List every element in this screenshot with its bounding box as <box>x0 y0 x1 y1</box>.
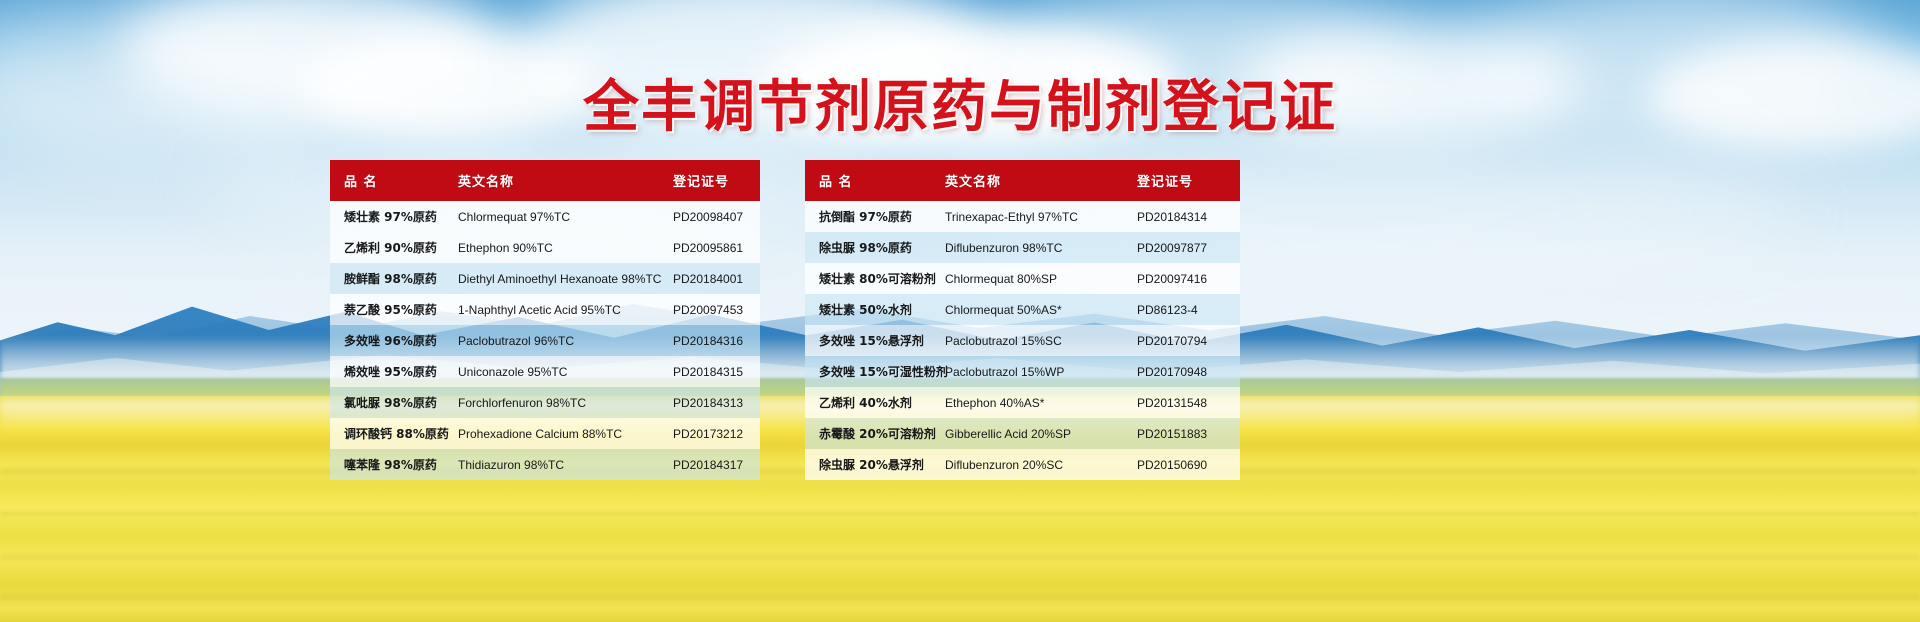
registration-table-left: 品 名 英文名称 登记证号 矮壮素 97%原药 Chlormequat 97%T… <box>330 160 760 480</box>
table-row: 调环酸钙 88%原药 Prohexadione Calcium 88%TC PD… <box>330 418 760 449</box>
field-streak <box>0 596 1920 599</box>
cell-registration-no: PD86123-4 <box>1137 294 1240 325</box>
cell-registration-no: PD20184315 <box>673 356 760 387</box>
cell-english-name: Chlormequat 97%TC <box>458 201 673 232</box>
cell-product-name: 除虫脲 20%悬浮剂 <box>805 449 945 480</box>
column-header-product-name: 品 名 <box>330 160 458 201</box>
table-row: 多效唑 96%原药 Paclobutrazol 96%TC PD20184316 <box>330 325 760 356</box>
cell-product-name: 多效唑 15%悬浮剂 <box>805 325 945 356</box>
cell-registration-no: PD20151883 <box>1137 418 1240 449</box>
table-row: 噻苯隆 98%原药 Thidiazuron 98%TC PD20184317 <box>330 449 760 480</box>
table-row: 氯吡脲 98%原药 Forchlorfenuron 98%TC PD201843… <box>330 387 760 418</box>
table-header-row: 品 名 英文名称 登记证号 <box>805 160 1240 201</box>
column-header-registration-no: 登记证号 <box>1137 160 1240 201</box>
cell-english-name: Trinexapac-Ethyl 97%TC <box>945 201 1137 232</box>
cell-registration-no: PD20131548 <box>1137 387 1240 418</box>
table: 品 名 英文名称 登记证号 抗倒酯 97%原药 Trinexapac-Ethyl… <box>805 160 1240 480</box>
cell-product-name: 抗倒酯 97%原药 <box>805 201 945 232</box>
cell-product-name: 乙烯利 40%水剂 <box>805 387 945 418</box>
cell-english-name: Ethephon 40%AS* <box>945 387 1137 418</box>
cell-english-name: Diflubenzuron 98%TC <box>945 232 1137 263</box>
cell-registration-no: PD20170948 <box>1137 356 1240 387</box>
cell-english-name: Paclobutrazol 15%WP <box>945 356 1137 387</box>
cell-registration-no: PD20173212 <box>673 418 760 449</box>
column-header-product-name: 品 名 <box>805 160 945 201</box>
table-body: 抗倒酯 97%原药 Trinexapac-Ethyl 97%TC PD20184… <box>805 201 1240 480</box>
cell-registration-no: PD20184001 <box>673 263 760 294</box>
cell-english-name: Ethephon 90%TC <box>458 232 673 263</box>
cell-product-name: 多效唑 96%原药 <box>330 325 458 356</box>
cell-product-name: 噻苯隆 98%原药 <box>330 449 458 480</box>
table-row: 矮壮素 50%水剂 Chlormequat 50%AS* PD86123-4 <box>805 294 1240 325</box>
table-header: 品 名 英文名称 登记证号 <box>330 160 760 201</box>
cell-english-name: Chlormequat 80%SP <box>945 263 1137 294</box>
cell-product-name: 赤霉酸 20%可溶粉剂 <box>805 418 945 449</box>
cell-registration-no: PD20184317 <box>673 449 760 480</box>
table-header: 品 名 英文名称 登记证号 <box>805 160 1240 201</box>
table-row: 除虫脲 20%悬浮剂 Diflubenzuron 20%SC PD2015069… <box>805 449 1240 480</box>
column-header-english-name: 英文名称 <box>945 160 1137 201</box>
table-row: 抗倒酯 97%原药 Trinexapac-Ethyl 97%TC PD20184… <box>805 201 1240 232</box>
cell-registration-no: PD20170794 <box>1137 325 1240 356</box>
table-row: 赤霉酸 20%可溶粉剂 Gibberellic Acid 20%SP PD201… <box>805 418 1240 449</box>
table-row: 除虫脲 98%原药 Diflubenzuron 98%TC PD20097877 <box>805 232 1240 263</box>
cell-registration-no: PD20184313 <box>673 387 760 418</box>
cell-product-name: 多效唑 15%可湿性粉剂 <box>805 356 945 387</box>
cell-product-name: 调环酸钙 88%原药 <box>330 418 458 449</box>
table-row: 乙烯利 40%水剂 Ethephon 40%AS* PD20131548 <box>805 387 1240 418</box>
cell-registration-no: PD20184314 <box>1137 201 1240 232</box>
cell-registration-no: PD20097453 <box>673 294 760 325</box>
cell-product-name: 矮壮素 80%可溶粉剂 <box>805 263 945 294</box>
table-row: 矮壮素 97%原药 Chlormequat 97%TC PD20098407 <box>330 201 760 232</box>
cell-english-name: Diethyl Aminoethyl Hexanoate 98%TC <box>458 263 673 294</box>
cell-product-name: 矮壮素 50%水剂 <box>805 294 945 325</box>
cell-registration-no: PD20095861 <box>673 232 760 263</box>
cell-registration-no: PD20184316 <box>673 325 760 356</box>
cell-english-name: Gibberellic Acid 20%SP <box>945 418 1137 449</box>
cell-english-name: Thidiazuron 98%TC <box>458 449 673 480</box>
cell-product-name: 乙烯利 90%原药 <box>330 232 458 263</box>
registration-table-right: 品 名 英文名称 登记证号 抗倒酯 97%原药 Trinexapac-Ethyl… <box>805 160 1240 480</box>
table-body: 矮壮素 97%原药 Chlormequat 97%TC PD20098407 乙… <box>330 201 760 480</box>
cell-registration-no: PD20097877 <box>1137 232 1240 263</box>
cell-product-name: 除虫脲 98%原药 <box>805 232 945 263</box>
cell-english-name: Forchlorfenuron 98%TC <box>458 387 673 418</box>
field-streak <box>0 512 1920 515</box>
cell-registration-no: PD20150690 <box>1137 449 1240 480</box>
cell-english-name: Paclobutrazol 15%SC <box>945 325 1137 356</box>
cell-product-name: 萘乙酸 95%原药 <box>330 294 458 325</box>
cell-english-name: Uniconazole 95%TC <box>458 356 673 387</box>
table: 品 名 英文名称 登记证号 矮壮素 97%原药 Chlormequat 97%T… <box>330 160 760 480</box>
table-row: 多效唑 15%悬浮剂 Paclobutrazol 15%SC PD2017079… <box>805 325 1240 356</box>
field-streak <box>0 556 1920 559</box>
table-row: 矮壮素 80%可溶粉剂 Chlormequat 80%SP PD20097416 <box>805 263 1240 294</box>
cell-english-name: Prohexadione Calcium 88%TC <box>458 418 673 449</box>
cell-english-name: Paclobutrazol 96%TC <box>458 325 673 356</box>
column-header-registration-no: 登记证号 <box>673 160 760 201</box>
table-row: 萘乙酸 95%原药 1-Naphthyl Acetic Acid 95%TC P… <box>330 294 760 325</box>
cell-english-name: Diflubenzuron 20%SC <box>945 449 1137 480</box>
table-row: 乙烯利 90%原药 Ethephon 90%TC PD20095861 <box>330 232 760 263</box>
cell-product-name: 矮壮素 97%原药 <box>330 201 458 232</box>
page-title: 全丰调节剂原药与制剂登记证 <box>0 62 1920 143</box>
cell-registration-no: PD20097416 <box>1137 263 1240 294</box>
cell-product-name: 胺鲜酯 98%原药 <box>330 263 458 294</box>
cell-product-name: 烯效唑 95%原药 <box>330 356 458 387</box>
cell-english-name: 1-Naphthyl Acetic Acid 95%TC <box>458 294 673 325</box>
table-header-row: 品 名 英文名称 登记证号 <box>330 160 760 201</box>
table-row: 胺鲜酯 98%原药 Diethyl Aminoethyl Hexanoate 9… <box>330 263 760 294</box>
cell-product-name: 氯吡脲 98%原药 <box>330 387 458 418</box>
cell-registration-no: PD20098407 <box>673 201 760 232</box>
cell-english-name: Chlormequat 50%AS* <box>945 294 1137 325</box>
table-row: 烯效唑 95%原药 Uniconazole 95%TC PD20184315 <box>330 356 760 387</box>
column-header-english-name: 英文名称 <box>458 160 673 201</box>
table-row: 多效唑 15%可湿性粉剂 Paclobutrazol 15%WP PD20170… <box>805 356 1240 387</box>
